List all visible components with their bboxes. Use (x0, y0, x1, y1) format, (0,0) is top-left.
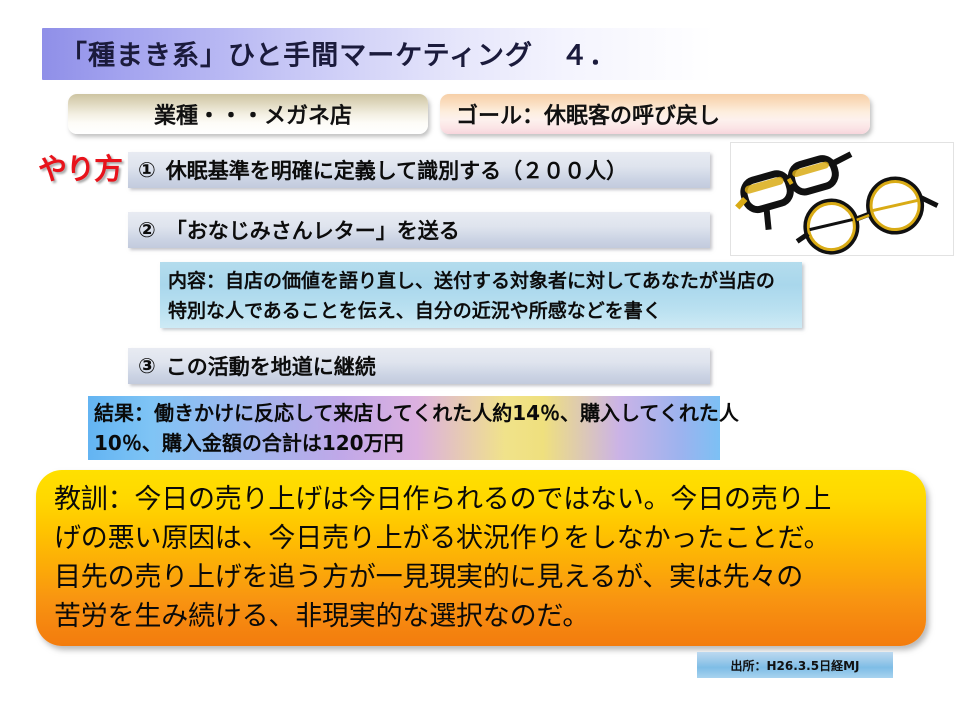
step-text-2: 「おなじみさんレター」を送る (156, 215, 460, 245)
industry-pill: 業種・・・メガネ店 (68, 94, 428, 134)
industry-label: 業種・・・メガネ店 (144, 98, 352, 130)
lesson-line-4: 苦労を生み続ける、非現実的な選択なのだ。 (54, 597, 912, 636)
eyeglasses-icon (731, 143, 953, 255)
result-line-1: 結果：働きかけに反応して来店してくれた人約14％、購入してくれた人 (94, 398, 714, 428)
step-text-1: 休眠基準を明確に定義して識別する（２００人） (156, 155, 627, 185)
result-box: 結果：働きかけに反応して来店してくれた人約14％、購入してくれた人 10％、購入… (88, 396, 720, 460)
step-number-1: ① (128, 158, 156, 182)
lesson-line-3: 目先の売り上げを追う方が一見現実的に見えるが、実は先々の (54, 558, 912, 597)
slide-title-bar: 「種まき系」ひと手間マーケティング ４． (42, 28, 714, 80)
source-note: 出所：H26.3.5日経MJ (697, 652, 893, 678)
source-text: 出所：H26.3.5日経MJ (731, 657, 860, 674)
step-number-3: ③ (128, 354, 156, 378)
eyeglasses-photo (730, 142, 954, 256)
step-item-2: ② 「おなじみさんレター」を送る (128, 212, 710, 248)
step-text-3: この活動を地道に継続 (156, 351, 376, 381)
detail-box: 内容：自店の価値を語り直し、送付する対象者に対してあなたが当店の 特別な人である… (160, 262, 802, 328)
step-item-3: ③ この活動を地道に継続 (128, 348, 710, 384)
detail-line-2: 特別な人であることを伝え、自分の近況や所感などを書く (168, 296, 796, 326)
method-label: やり方 (38, 146, 122, 188)
page-title: 「種まき系」ひと手間マーケティング ４． (60, 34, 617, 73)
goal-label: ゴール：休眠客の呼び戻し (440, 98, 720, 130)
slide-canvas: 「種まき系」ひと手間マーケティング ４． 業種・・・メガネ店 ゴール：休眠客の呼… (0, 0, 960, 720)
lesson-line-2: げの悪い原因は、今日売り上がる状況作りをしなかったことだ。 (54, 519, 912, 558)
step-number-2: ② (128, 218, 156, 242)
result-line-2: 10％、購入金額の合計は120万円 (94, 428, 714, 458)
detail-line-1: 内容：自店の価値を語り直し、送付する対象者に対してあなたが当店の (168, 266, 796, 296)
lesson-box: 教訓：今日の売り上げは今日作られるのではない。今日の売り上 げの悪い原因は、今日… (36, 470, 926, 646)
goal-pill: ゴール：休眠客の呼び戻し (440, 94, 870, 134)
lesson-line-1: 教訓：今日の売り上げは今日作られるのではない。今日の売り上 (54, 480, 912, 519)
step-item-1: ① 休眠基準を明確に定義して識別する（２００人） (128, 152, 710, 188)
